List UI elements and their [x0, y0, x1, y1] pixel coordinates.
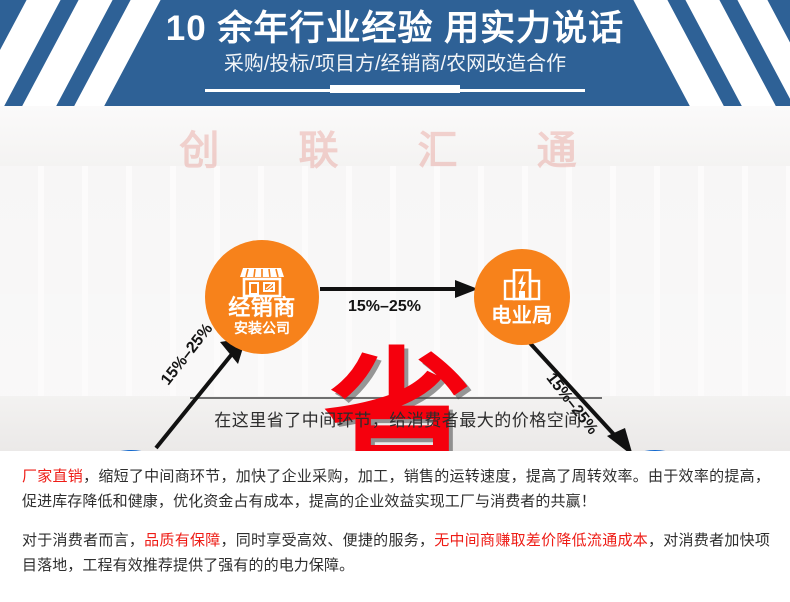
header-subtitle: 采购/投标/项目方/经销商/农网改造合作: [0, 51, 790, 77]
big-save-character: 省: [318, 346, 478, 451]
paragraph-one: 厂家直销，缩短了中间商环节，加快了企业采购，加工，销售的运转速度，提高了周转效率…: [22, 464, 770, 514]
paragraph-two-run-0: 对于消费者而言，: [22, 532, 144, 549]
header-divider-center: [330, 85, 460, 93]
paragraph-two-run-2: ，同时享受高效、便捷的服务，: [221, 532, 435, 549]
infographic-page: 10 余年行业经验 用实力说话 采购/投标/项目方/经销商/农网改造合作 创 联…: [0, 0, 790, 602]
body-text-section: 厂家直销，缩短了中间商环节，加快了企业采购，加工，销售的运转速度，提高了周转效率…: [0, 451, 790, 602]
arrow-label-dealer-to-bureau: 15%–25%: [348, 298, 421, 316]
node-dealer[interactable]: 经销商 安装公司: [205, 240, 319, 354]
header-banner: 10 余年行业经验 用实力说话 采购/投标/项目方/经销商/农网改造合作: [0, 0, 790, 106]
brand-watermark: 创 联 汇 通: [0, 118, 790, 176]
paragraph-two-run-1-highlight: 品质有保障: [144, 532, 220, 549]
node-dealer-sublabel: 安装公司: [205, 318, 319, 338]
diagram-stage: 创 联 汇 通 省 在这里省了中间环节，给消费者最大的价格空间 15%–25% …: [0, 106, 790, 451]
paragraph-two-run-3-highlight: 无中间商赚取差价降低流通成本: [434, 532, 648, 549]
header-title: 10 余年行业经验 用实力说话: [0, 8, 790, 50]
diagram-caption: 在这里省了中间环节，给消费者最大的价格空间: [198, 406, 598, 431]
paragraph-two: 对于消费者而言，品质有保障，同时享受高效、便捷的服务，无中间商赚取差价降低流通成…: [22, 528, 770, 578]
node-power-bureau[interactable]: 电业局: [474, 249, 570, 345]
paragraph-one-run-0-highlight: 厂家直销: [22, 468, 83, 485]
node-power-bureau-label: 电业局: [474, 299, 570, 328]
power-building-icon: [474, 269, 570, 301]
paragraph-one-run-1: ，缩短了中间商环节，加快了企业采购，加工，销售的运转速度，提高了周转效率。由于效…: [22, 468, 770, 510]
